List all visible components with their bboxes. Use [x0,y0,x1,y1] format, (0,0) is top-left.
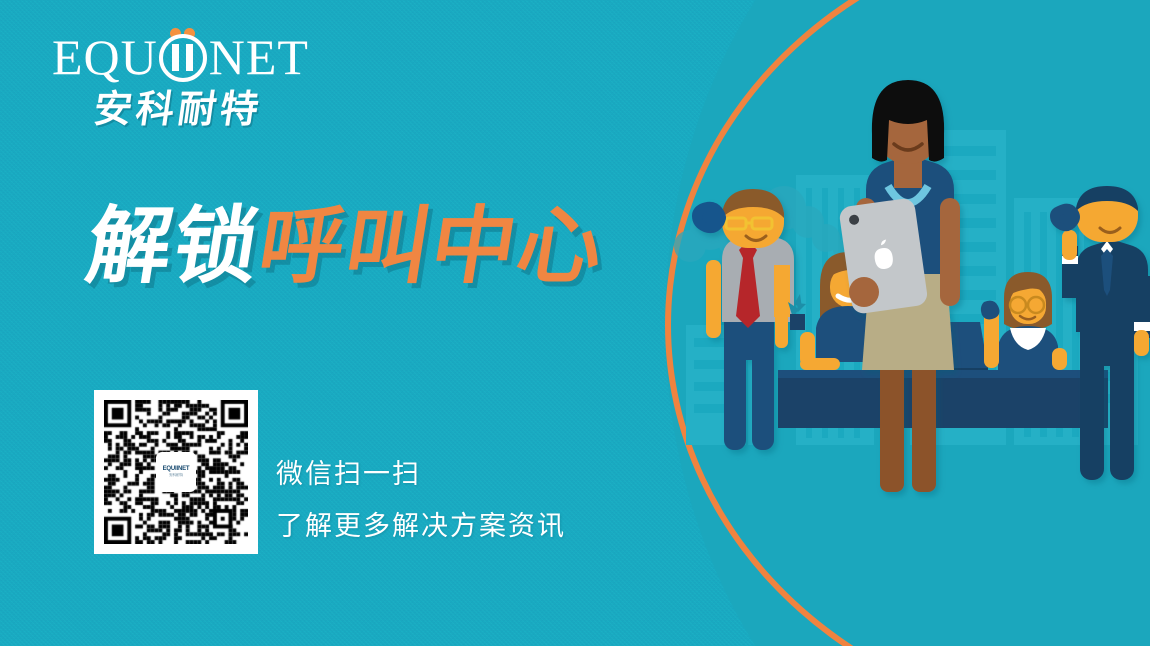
scan-caption-line1: 微信扫一扫 [276,448,566,500]
suit-leg-a [1080,348,1104,480]
left-man-right-arm [775,306,788,348]
reception-desk [778,370,1108,428]
headline-orange-part: 呼叫中心 [253,199,612,293]
logo-wordmark: EQU NET [52,28,352,82]
center-arm-right [940,198,960,306]
promo-banner: EQU NET 安科耐特 解锁呼叫中心 EQUIINET 安科耐特 微信扫一扫 [0,0,1150,646]
suit-right-cuff [1134,322,1150,331]
headline-white-part: 解锁 [81,199,268,293]
suit-handset-bar [1059,214,1079,224]
left-man-left-arm [706,260,721,338]
suit-right-hand [1134,330,1149,356]
logo-bar-left-icon [172,44,179,71]
desk-woman-hand-left [800,358,840,370]
logo-word-right: NET [209,32,309,82]
illustration-svg [648,70,1150,500]
qr-code[interactable]: EQUIINET 安科耐特 [94,390,258,554]
qr-badge-title: EQUIINET [163,466,190,472]
center-leg-a [880,360,904,492]
scan-caption-line2: 了解更多解决方案资讯 [276,500,566,552]
logo-chinese-name: 安科耐特 [91,88,355,132]
scan-caption: 微信扫一扫 了解更多解决方案资讯 [276,448,566,552]
page-title: 解锁呼叫中心 [80,196,612,296]
logo-bar-right-icon [186,44,193,71]
center-leg-b [912,360,936,492]
left-man-handset-bar [702,212,726,223]
center-hand [849,277,879,307]
qr-code-canvas: EQUIINET 安科耐特 [104,400,248,544]
logo-word-left: EQU [52,32,158,82]
qr-badge-subtitle: 安科耐特 [169,474,183,478]
suit-left-hand [1062,230,1077,260]
call-center-team-illustration [648,70,1150,500]
agent-hand-right [1052,348,1067,370]
logo-ring-icon [159,34,207,82]
suit-leg-b [1110,348,1134,480]
qr-center-logo-badge: EQUIINET 安科耐特 [156,452,196,492]
brand-logo: EQU NET 安科耐特 [52,28,352,132]
smiley-ii-mark-icon [155,28,211,82]
